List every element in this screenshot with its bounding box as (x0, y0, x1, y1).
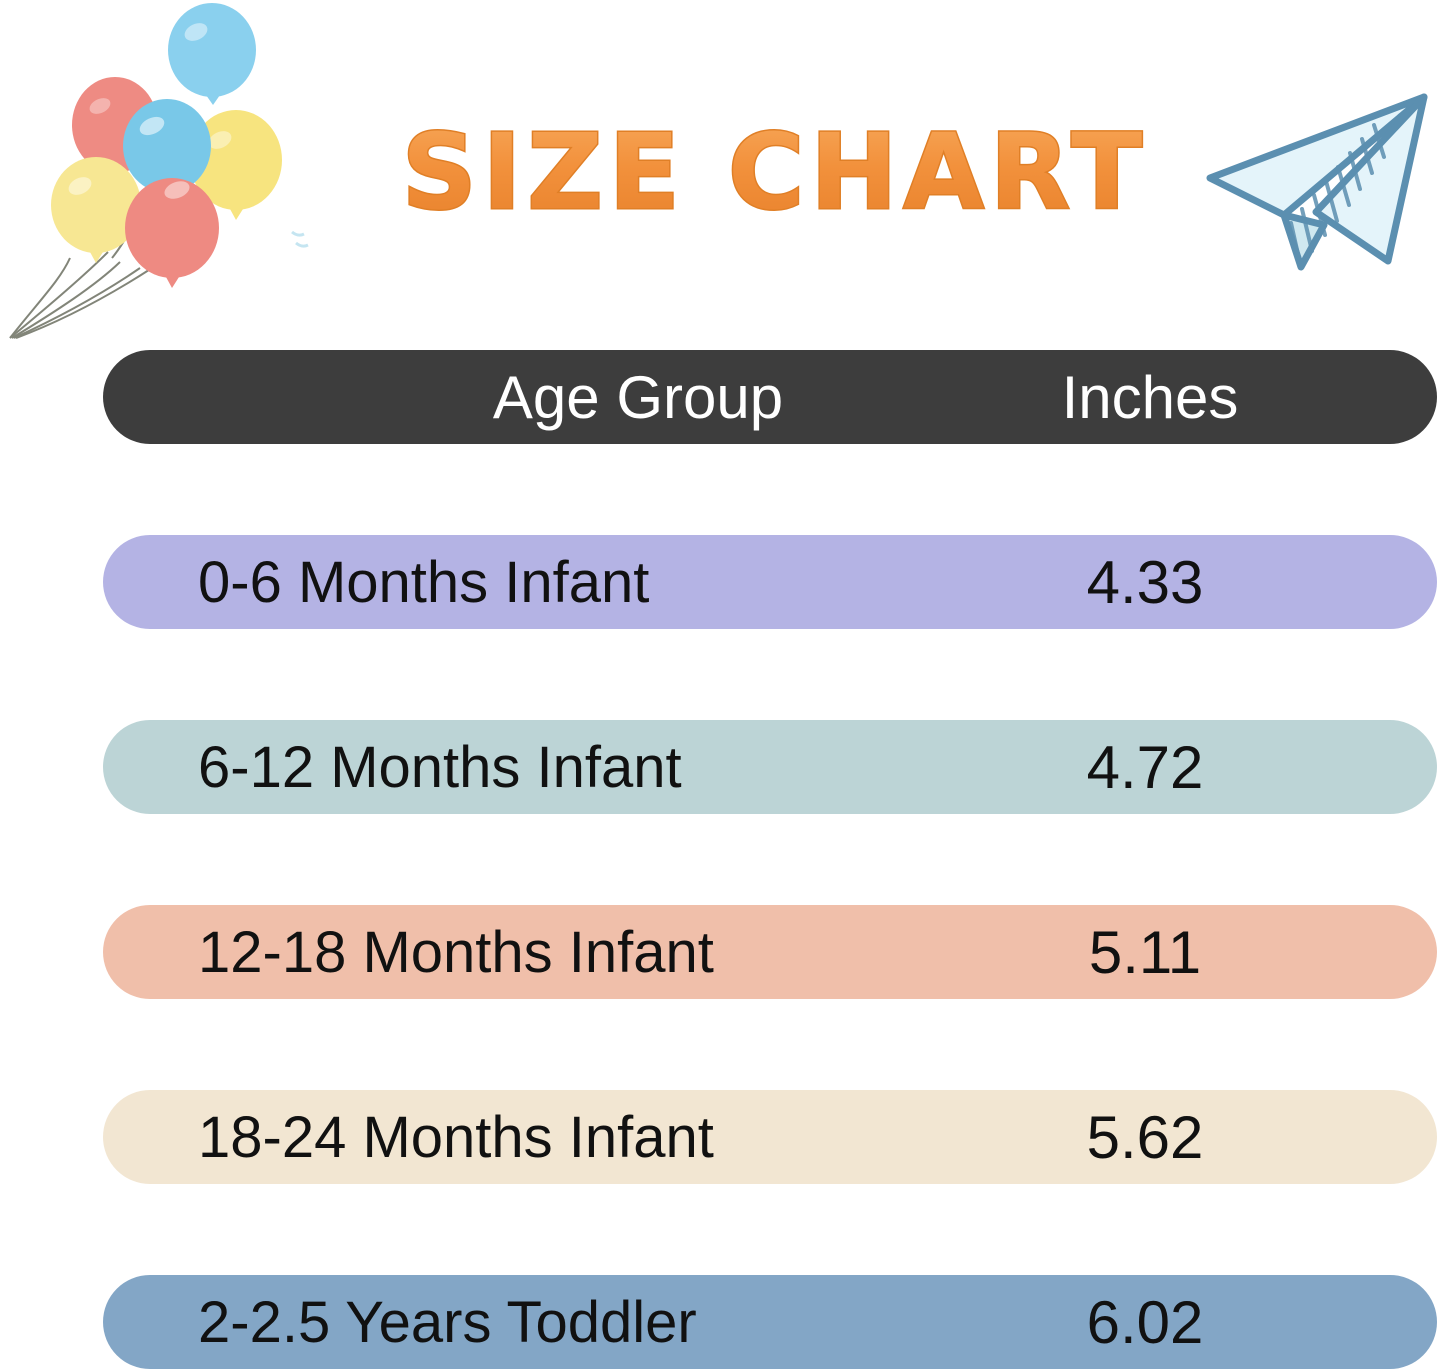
table-row: 6-12 Months Infant 4.72 (103, 720, 1437, 814)
cell-inches: 4.72 (983, 733, 1437, 802)
balloon-cluster-icon (0, 0, 320, 345)
balloon-coral-left (72, 77, 158, 182)
cell-inches: 6.02 (983, 1288, 1437, 1357)
column-header-inches: Inches (983, 363, 1437, 432)
balloon-blue-top (168, 3, 256, 105)
table-header-row: Age Group Inches (103, 350, 1437, 444)
cell-age-group: 12-18 Months Infant (103, 919, 983, 986)
table-row: 0-6 Months Infant 4.33 (103, 535, 1437, 629)
page-title-text: SIZE CHART (402, 111, 1148, 233)
cell-age-group: 2-2.5 Years Toddler (103, 1289, 983, 1356)
balloon-yellow-right (190, 110, 282, 220)
cell-age-group: 18-24 Months Infant (103, 1104, 983, 1171)
balloon-coral-front (125, 178, 219, 288)
cell-inches: 5.62 (983, 1103, 1437, 1172)
table-row: 18-24 Months Infant 5.62 (103, 1090, 1437, 1184)
column-header-age-group: Age Group (103, 363, 983, 432)
paper-airplane-icon (1188, 75, 1438, 290)
cell-age-group: 0-6 Months Infant (103, 549, 983, 616)
table-row: 12-18 Months Infant 5.11 (103, 905, 1437, 999)
page-title: SIZE CHART (395, 108, 1155, 238)
size-chart-table: Age Group Inches 0-6 Months Infant 4.33 … (103, 350, 1437, 1369)
table-row: 2-2.5 Years Toddler 6.02 (103, 1275, 1437, 1369)
cell-inches: 5.11 (983, 918, 1437, 987)
balloon-blue-center (123, 99, 211, 203)
cell-inches: 4.33 (983, 548, 1437, 617)
balloon-yellow-left (51, 157, 141, 263)
cell-age-group: 6-12 Months Infant (103, 734, 983, 801)
